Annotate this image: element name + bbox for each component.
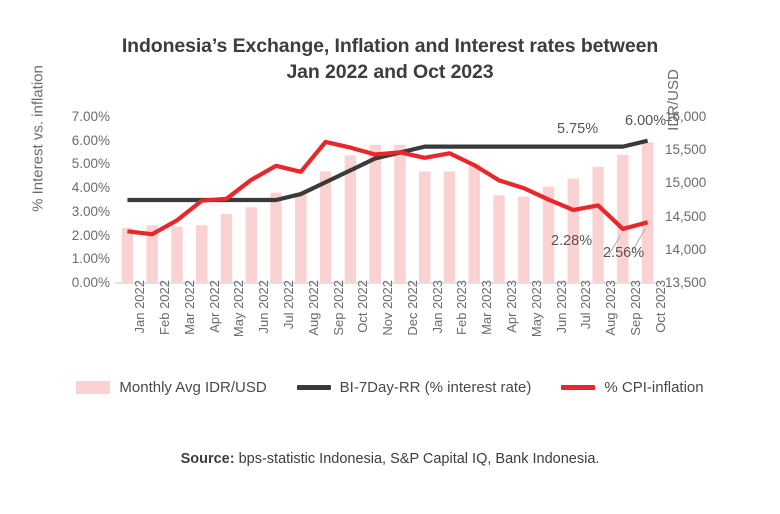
bar-aug-2022 [295, 194, 306, 283]
data-label-cpi-sep-2023: 2.28% [551, 233, 592, 249]
chart-title-line1: Indonesia’s Exchange, Inflation and Inte… [122, 35, 658, 57]
chart-legend: Monthly Avg IDR/USD BI-7Day-RR (% intere… [0, 379, 780, 396]
source-note: Source: bps-statistic Indonesia, S&P Cap… [0, 451, 780, 467]
left-axis-tick: 7.00% [44, 107, 110, 127]
bar-oct-2023 [642, 142, 653, 283]
x-axis-tick: Dec 2022 [405, 280, 420, 360]
x-axis-tick: May 2023 [529, 280, 544, 360]
right-axis-tick: 13,500 [665, 273, 727, 293]
data-label-bi-plateau: 5.75% [557, 121, 598, 137]
x-axis-tick: Aug 2022 [306, 280, 321, 360]
x-axis-tick: Feb 2023 [454, 280, 469, 360]
bar-oct-2022 [345, 156, 356, 283]
bar-jun-2022 [246, 207, 257, 283]
x-axis-tick: Feb 2022 [157, 280, 172, 360]
right-axis-tick: 14,500 [665, 207, 727, 227]
left-axis-tick: 0.00% [44, 273, 110, 293]
bar-jul-2023 [568, 179, 579, 283]
plot-svg [115, 117, 660, 283]
chart-container: Indonesia’s Exchange, Inflation and Inte… [0, 0, 780, 514]
bar-jan-2022 [122, 228, 133, 283]
left-axis-tick: 4.00% [44, 178, 110, 198]
x-axis-tick: Oct 2023 [653, 280, 668, 360]
left-axis-ticks: 0.00%1.00%2.00%3.00%4.00%5.00%6.00%7.00% [44, 107, 110, 293]
bar-may-2023 [518, 197, 529, 283]
bar-mar-2023 [469, 163, 480, 283]
bar-aug-2023 [592, 167, 603, 283]
left-axis-tick: 2.00% [44, 226, 110, 246]
chart-title: Indonesia’s Exchange, Inflation and Inte… [0, 33, 780, 85]
data-label-cpi-oct-2023: 2.56% [603, 245, 644, 261]
right-axis-tick: 14,000 [665, 240, 727, 260]
legend-swatch-line-red-icon [561, 385, 595, 390]
bar-mar-2022 [171, 227, 182, 283]
x-axis-tick: Jan 2023 [430, 280, 445, 360]
x-axis-tick: Sep 2022 [331, 280, 346, 360]
bar-jul-2022 [270, 193, 281, 283]
source-label: Source: [181, 451, 235, 467]
bar-series-monthly-avg-idr-usd [122, 142, 654, 283]
x-axis-tick: Sep 2023 [628, 280, 643, 360]
x-axis-tick: Nov 2022 [380, 280, 395, 360]
right-axis-title: IDR/USD [665, 40, 682, 160]
x-axis-tick: Jan 2022 [132, 280, 147, 360]
bar-apr-2022 [196, 225, 207, 283]
x-axis-ticks: Jan 2022Feb 2022Mar 2022Apr 2022May 2022… [115, 286, 660, 366]
chart-title-line2: Jan 2022 and Oct 2023 [0, 59, 780, 85]
x-axis-tick: Oct 2022 [355, 280, 370, 360]
x-axis-tick: Jul 2022 [281, 280, 296, 360]
legend-label-bi-7day-rr: BI-7Day-RR (% interest rate) [340, 379, 532, 396]
source-text: bps-statistic Indonesia, S&P Capital IQ,… [235, 451, 600, 467]
x-axis-tick: Jun 2023 [554, 280, 569, 360]
left-axis-tick: 5.00% [44, 154, 110, 174]
bar-sep-2022 [320, 171, 331, 283]
x-axis-tick: May 2022 [231, 280, 246, 360]
plot-area [115, 117, 660, 283]
x-axis-tick: Aug 2023 [603, 280, 618, 360]
legend-item-bi-7day-rr[interactable]: BI-7Day-RR (% interest rate) [297, 379, 532, 396]
x-axis-tick: Jun 2022 [256, 280, 271, 360]
x-axis-tick: Jul 2023 [578, 280, 593, 360]
x-axis-tick: Apr 2023 [504, 280, 519, 360]
left-axis-tick: 3.00% [44, 202, 110, 222]
bar-feb-2023 [444, 171, 455, 283]
bar-dec-2022 [394, 145, 405, 283]
bar-may-2022 [221, 214, 232, 283]
bar-sep-2023 [617, 155, 628, 283]
legend-item-cpi-inflation[interactable]: % CPI-inflation [561, 379, 703, 396]
legend-swatch-bar-icon [76, 381, 110, 394]
bar-nov-2022 [369, 145, 380, 283]
x-axis-tick: Mar 2023 [479, 280, 494, 360]
right-axis-tick: 15,000 [665, 173, 727, 193]
x-axis-tick: Mar 2022 [182, 280, 197, 360]
data-label-bi-final: 6.00% [625, 113, 666, 129]
bar-jan-2023 [419, 171, 430, 283]
x-axis-tick: Apr 2022 [207, 280, 222, 360]
legend-swatch-line-dark-icon [297, 385, 331, 390]
left-axis-tick: 1.00% [44, 249, 110, 269]
legend-item-monthly-avg-idr-usd[interactable]: Monthly Avg IDR/USD [76, 379, 266, 396]
legend-label-cpi-inflation: % CPI-inflation [604, 379, 703, 396]
legend-label-monthly-avg-idr-usd: Monthly Avg IDR/USD [119, 379, 266, 396]
bar-apr-2023 [493, 195, 504, 283]
left-axis-title: % Interest vs. inflation [30, 39, 47, 239]
left-axis-tick: 6.00% [44, 131, 110, 151]
